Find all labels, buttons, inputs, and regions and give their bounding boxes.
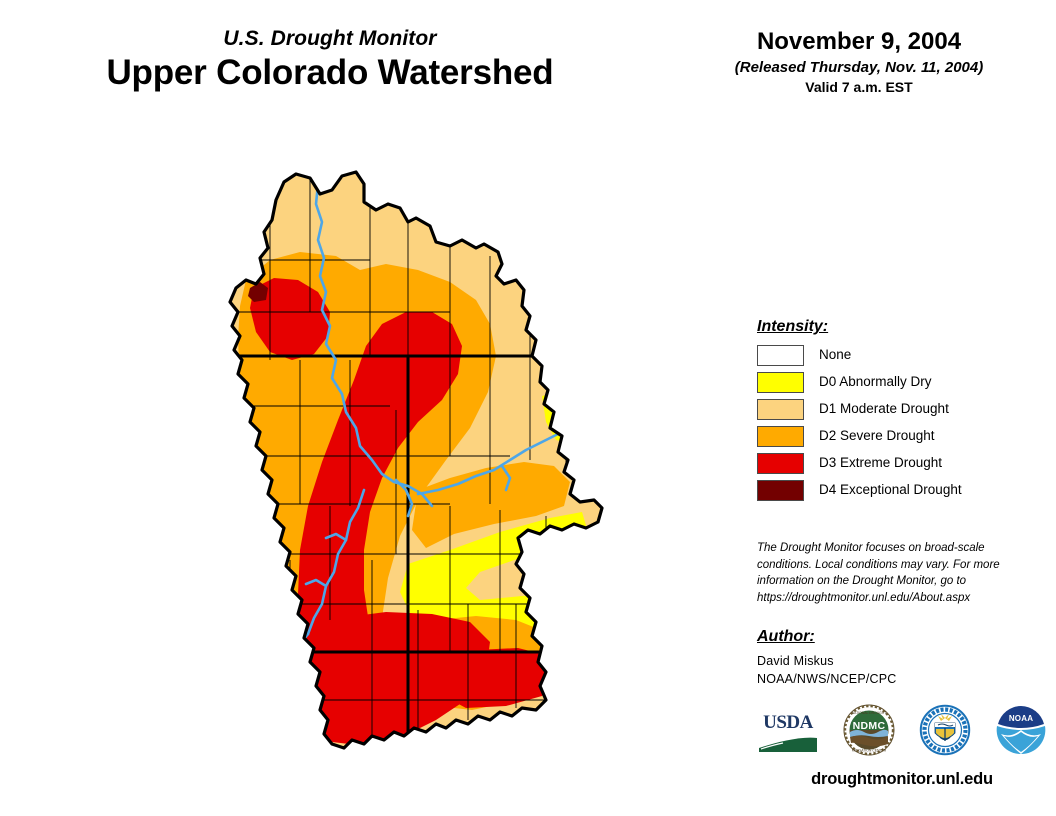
title-block: U.S. Drought Monitor Upper Colorado Wate… xyxy=(0,28,660,92)
noaa-logo: NOAA xyxy=(995,704,1047,761)
legend-swatch-d3 xyxy=(757,453,804,474)
legend-label-d1: D1 Moderate Drought xyxy=(819,402,949,416)
legend: Intensity: None D0 Abnormally Dry D1 Mod… xyxy=(757,318,1047,506)
legend-swatch-d1 xyxy=(757,399,804,420)
usda-logo: USDA xyxy=(757,706,819,759)
legend-swatch-d2 xyxy=(757,426,804,447)
disclaimer-text: The Drought Monitor focuses on broad-sca… xyxy=(757,540,1025,607)
drought-map[interactable] xyxy=(150,160,630,780)
release-date: (Released Thursday, Nov. 11, 2004) xyxy=(662,59,1056,76)
legend-label-d3: D3 Extreme Drought xyxy=(819,456,942,470)
legend-label-d4: D4 Exceptional Drought xyxy=(819,483,962,497)
svg-text:NATIONAL DROUGHT: NATIONAL DROUGHT xyxy=(852,711,887,715)
legend-item-d0: D0 Abnormally Dry xyxy=(757,371,1047,393)
map-date: November 9, 2004 xyxy=(662,28,1056,56)
svg-text:NDMC: NDMC xyxy=(853,720,886,732)
site-url[interactable]: droughtmonitor.unl.edu xyxy=(757,770,1047,789)
svg-text:USDA: USDA xyxy=(763,712,814,733)
legend-label-d0: D0 Abnormally Dry xyxy=(819,375,932,389)
page-title: Upper Colorado Watershed xyxy=(0,53,660,92)
drought-monitor-supertitle: U.S. Drought Monitor xyxy=(0,28,660,50)
svg-text:MITIGATION CENTER: MITIGATION CENTER xyxy=(852,748,887,752)
legend-item-d2: D2 Severe Drought xyxy=(757,425,1047,447)
svg-text:NOAA: NOAA xyxy=(1009,714,1033,723)
legend-title: Intensity: xyxy=(757,318,1047,336)
legend-item-d3: D3 Extreme Drought xyxy=(757,452,1047,474)
ndmc-logo: NDMC NATIONAL DROUGHT MITIGATION CENTER xyxy=(843,704,895,761)
legend-swatch-d0 xyxy=(757,372,804,393)
legend-label-none: None xyxy=(819,348,851,362)
legend-swatch-none xyxy=(757,345,804,366)
author-block: Author: David Miskus NOAA/NWS/NCEP/CPC xyxy=(757,628,1047,688)
legend-label-d2: D2 Severe Drought xyxy=(819,429,935,443)
valid-time: Valid 7 a.m. EST xyxy=(662,79,1056,95)
author-title: Author: xyxy=(757,628,1047,646)
legend-item-d1: D1 Moderate Drought xyxy=(757,398,1047,420)
legend-item-d4: D4 Exceptional Drought xyxy=(757,479,1047,501)
date-block: November 9, 2004 (Released Thursday, Nov… xyxy=(662,28,1056,95)
nws-logo xyxy=(919,704,971,761)
author-agency: NOAA/NWS/NCEP/CPC xyxy=(757,670,1047,688)
legend-swatch-d4 xyxy=(757,480,804,501)
legend-item-none: None xyxy=(757,344,1047,366)
author-name: David Miskus xyxy=(757,652,1047,670)
map-svg[interactable] xyxy=(150,160,630,780)
agency-logos: USDA NDMC NATIONAL DROUGHT MITIGATION CE… xyxy=(757,703,1047,761)
